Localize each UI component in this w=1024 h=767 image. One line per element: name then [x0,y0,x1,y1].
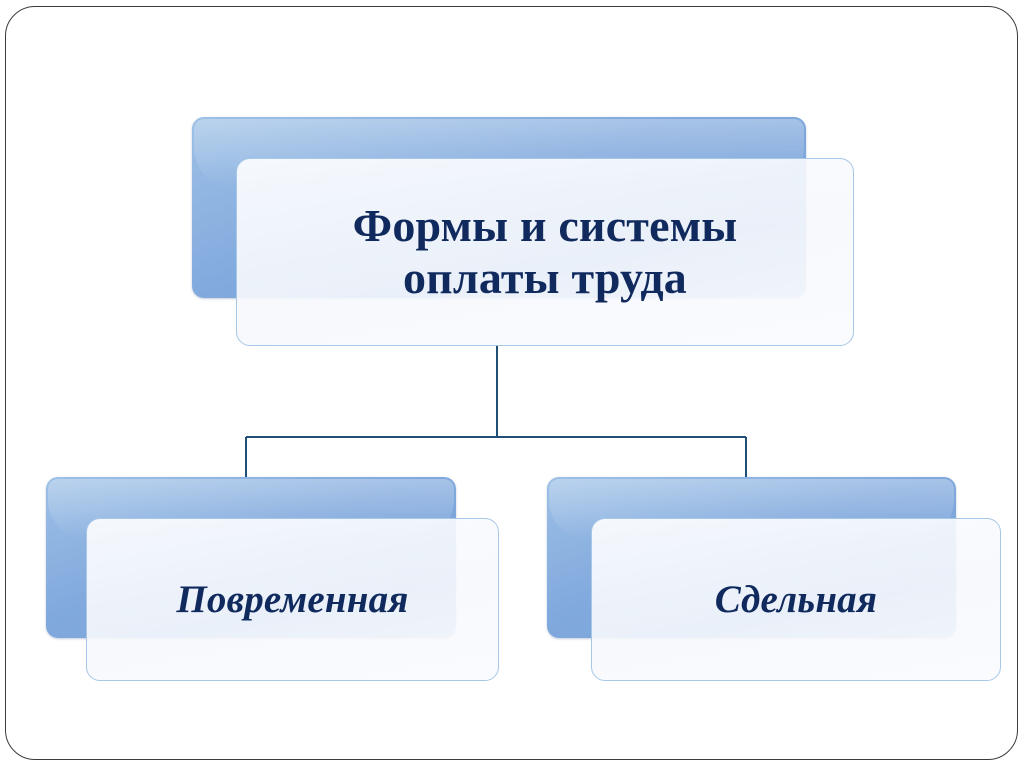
node-sdelnaya-card[interactable]: Сдельная [591,518,1001,681]
node-povremennaya-label: Повременная [176,578,408,622]
node-root[interactable]: Формы и системы оплаты труда [192,117,854,346]
slide-canvas: Формы и системы оплаты труда Повременная… [0,0,1024,767]
node-root-label-line1: Формы и системы [353,200,738,252]
node-povremennaya-card[interactable]: Повременная [86,518,499,681]
node-root-label-line2: оплаты труда [353,252,738,304]
node-povremennaya[interactable]: Повременная [46,477,499,681]
node-root-label: Формы и системы оплаты труда [353,200,738,303]
node-sdelnaya-label: Сдельная [715,578,877,622]
node-root-card[interactable]: Формы и системы оплаты труда [236,158,854,346]
node-sdelnaya[interactable]: Сдельная [547,477,1001,681]
